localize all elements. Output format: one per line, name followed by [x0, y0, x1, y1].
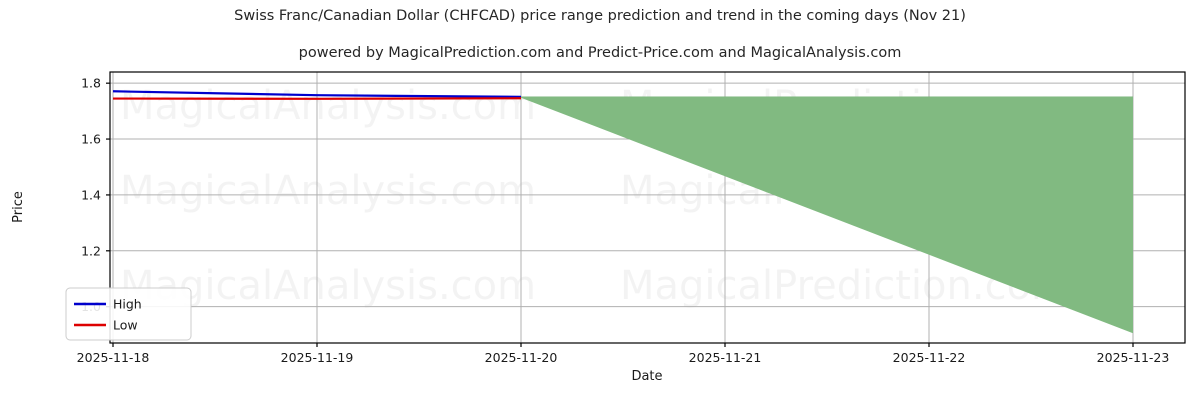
x-axis-label: Date	[631, 369, 662, 384]
y-tick-label: 1.2	[81, 243, 101, 258]
watermark-text: MagicalAnalysis.com	[120, 83, 536, 129]
chart-figure: Swiss Franc/Canadian Dollar (CHFCAD) pri…	[0, 0, 1200, 400]
x-tick-label: 2025-11-20	[485, 350, 558, 365]
y-tick-label: 1.4	[81, 187, 101, 202]
chart-legend[interactable]: HighLow	[66, 288, 191, 340]
watermark-text: MagicalAnalysis.com	[120, 168, 536, 214]
y-tick-label: 1.8	[81, 76, 101, 91]
x-tick-label: 2025-11-21	[689, 350, 762, 365]
y-axis-label: Price	[11, 191, 26, 223]
x-tick-label: 2025-11-19	[281, 350, 354, 365]
x-axis-ticks: 2025-11-182025-11-192025-11-202025-11-21…	[77, 343, 1170, 365]
legend-label-low[interactable]: Low	[113, 318, 138, 333]
y-axis-ticks: 1.01.21.41.61.8	[81, 76, 110, 315]
chart-plot-area: MagicalAnalysis.comMagicalPrediction.com…	[0, 0, 1200, 400]
x-tick-label: 2025-11-18	[77, 350, 150, 365]
y-tick-label: 1.6	[81, 132, 101, 147]
x-tick-label: 2025-11-23	[1097, 350, 1170, 365]
x-tick-label: 2025-11-22	[893, 350, 966, 365]
price-line-low	[113, 98, 521, 99]
legend-label-high[interactable]: High	[113, 297, 142, 312]
